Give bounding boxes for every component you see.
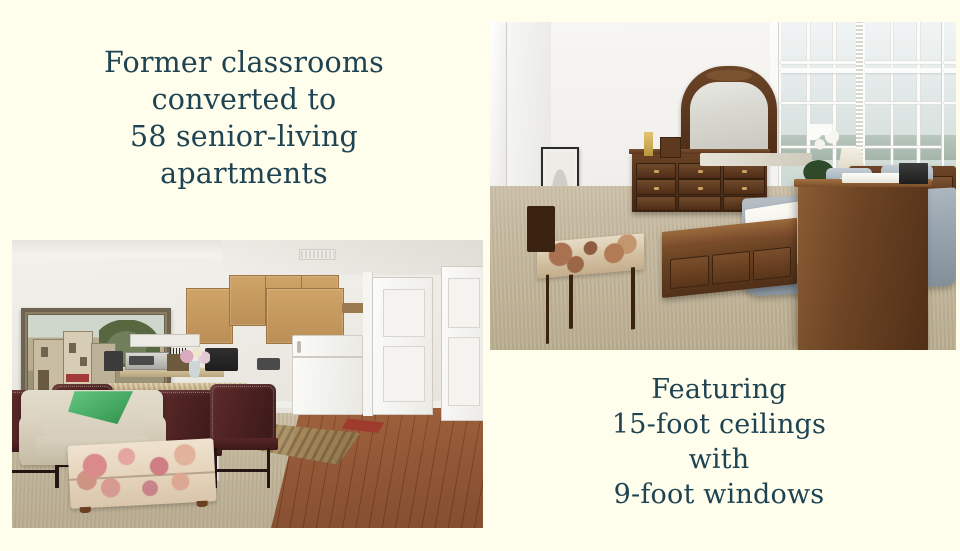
ceiling-vent	[299, 249, 336, 260]
mirror-crest	[706, 70, 752, 81]
picture-frame	[660, 137, 681, 159]
orchid-blooms	[807, 124, 840, 163]
caption-right-line-4: 9-foot windows	[565, 477, 873, 512]
mirror-glass	[690, 82, 768, 157]
folded-linens	[842, 173, 902, 183]
toaster-oven	[257, 358, 281, 370]
caption-left-line-1: Former classrooms	[60, 44, 428, 81]
caption-right-line-1: Featuring	[565, 372, 873, 407]
caption-left-line-4: apartments	[60, 155, 428, 192]
bench-backrest	[527, 206, 555, 252]
refrigerator	[292, 335, 362, 415]
caption-left-line-2: converted to	[60, 81, 428, 118]
caption-right-line-2: 15-foot ceilings	[565, 407, 873, 442]
green-throw-blanket	[68, 391, 133, 424]
interior-door-right	[441, 266, 483, 421]
range-hood	[130, 334, 200, 348]
dark-object	[899, 163, 928, 185]
microwave	[125, 352, 169, 370]
caption-left-line-3: 58 senior-living	[60, 118, 428, 155]
barstool	[210, 384, 276, 488]
refrigerator-handle	[297, 341, 300, 353]
flower-bouquet	[179, 347, 210, 364]
interior-door-left	[372, 277, 433, 414]
bedroom-photo	[490, 22, 956, 350]
former-classrooms-caption: Former classrooms converted to 58 senior…	[60, 44, 428, 192]
coffee-maker	[205, 348, 238, 371]
caption-right-line-3: with	[565, 442, 873, 477]
blender	[104, 351, 123, 371]
candlestick	[644, 132, 653, 157]
floral-ottoman	[67, 438, 216, 509]
slide-canvas: Former classrooms converted to 58 senior…	[0, 0, 960, 551]
dresser-items	[700, 153, 812, 166]
ornate-dresser-mirror	[681, 66, 777, 161]
foreground-dresser	[798, 183, 928, 350]
living-room-photo	[12, 240, 483, 528]
featuring-caption: Featuring 15-foot ceilings with 9-foot w…	[565, 372, 873, 512]
